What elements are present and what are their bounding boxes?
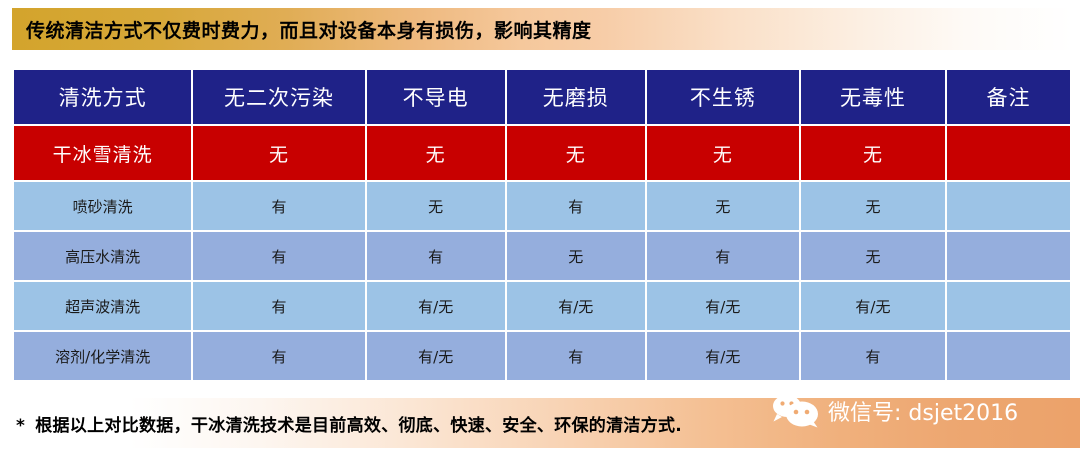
bottom-banner: *根据以上对比数据，干冰清洗技术是目前高效、彻底、快速、安全、环保的清洁方式. [0,398,1080,448]
cell-remarks [947,232,1070,280]
cell-no-abrasion: 有 [507,182,645,230]
column-header-no-secondary-pollution: 无二次污染 [193,70,364,124]
row-label: 干冰雪清洗 [14,126,191,180]
cell-non-toxic: 有 [801,332,945,380]
cell-non-toxic: 无 [801,126,945,180]
column-header-non-conductive: 不导电 [367,70,505,124]
cell-no-abrasion: 有/无 [507,282,645,330]
cell-no-secondary-pollution: 有 [193,332,364,380]
table-header-row: 清洗方式 无二次污染 不导电 无磨损 不生锈 无毒性 备注 [14,70,1070,124]
column-header-method: 清洗方式 [14,70,191,124]
cell-non-conductive: 无 [367,126,505,180]
bottom-banner-text: *根据以上对比数据，干冰清洗技术是目前高效、彻底、快速、安全、环保的清洁方式. [0,411,682,436]
column-header-remarks: 备注 [947,70,1070,124]
cell-no-secondary-pollution: 有 [193,182,364,230]
cell-non-toxic: 无 [801,232,945,280]
cell-non-toxic: 无 [801,182,945,230]
cell-no-rust: 有/无 [647,282,799,330]
cell-no-abrasion: 无 [507,232,645,280]
cell-remarks [947,126,1070,180]
cell-remarks [947,282,1070,330]
column-header-non-toxic: 无毒性 [801,70,945,124]
table-row-highlighted: 干冰雪清洗 无 无 无 无 无 [14,126,1070,180]
cell-no-rust: 有/无 [647,332,799,380]
top-banner-text: 传统清洁方式不仅费时费力，而且对设备本身有损伤，影响其精度 [12,16,592,43]
cell-no-rust: 无 [647,182,799,230]
cell-no-abrasion: 无 [507,126,645,180]
cell-remarks [947,182,1070,230]
column-header-no-abrasion: 无磨损 [507,70,645,124]
row-label: 高压水清洗 [14,232,191,280]
cell-non-conductive: 有/无 [367,332,505,380]
cell-no-secondary-pollution: 有 [193,232,364,280]
table-row: 溶剂/化学清洗 有 有/无 有 有/无 有 [14,332,1070,380]
cell-no-secondary-pollution: 无 [193,126,364,180]
cell-non-conductive: 有/无 [367,282,505,330]
row-label: 溶剂/化学清洗 [14,332,191,380]
cell-no-rust: 有 [647,232,799,280]
cell-no-rust: 无 [647,126,799,180]
column-header-no-rust: 不生锈 [647,70,799,124]
top-banner: 传统清洁方式不仅费时费力，而且对设备本身有损伤，影响其精度 [12,8,1072,50]
cell-non-toxic: 有/无 [801,282,945,330]
table-row: 超声波清洗 有 有/无 有/无 有/无 有/无 [14,282,1070,330]
cleaning-method-comparison-table: 清洗方式 无二次污染 不导电 无磨损 不生锈 无毒性 备注 干冰雪清洗 无 无 … [12,68,1072,382]
row-label: 超声波清洗 [14,282,191,330]
table-row: 高压水清洗 有 有 无 有 无 [14,232,1070,280]
table-row: 喷砂清洗 有 无 有 无 无 [14,182,1070,230]
row-label: 喷砂清洗 [14,182,191,230]
cell-non-conductive: 无 [367,182,505,230]
asterisk-marker: * [16,416,25,436]
cell-remarks [947,332,1070,380]
cell-no-abrasion: 有 [507,332,645,380]
cell-non-conductive: 有 [367,232,505,280]
cell-no-secondary-pollution: 有 [193,282,364,330]
bottom-banner-note: 根据以上对比数据，干冰清洗技术是目前高效、彻底、快速、安全、环保的清洁方式. [35,416,682,436]
